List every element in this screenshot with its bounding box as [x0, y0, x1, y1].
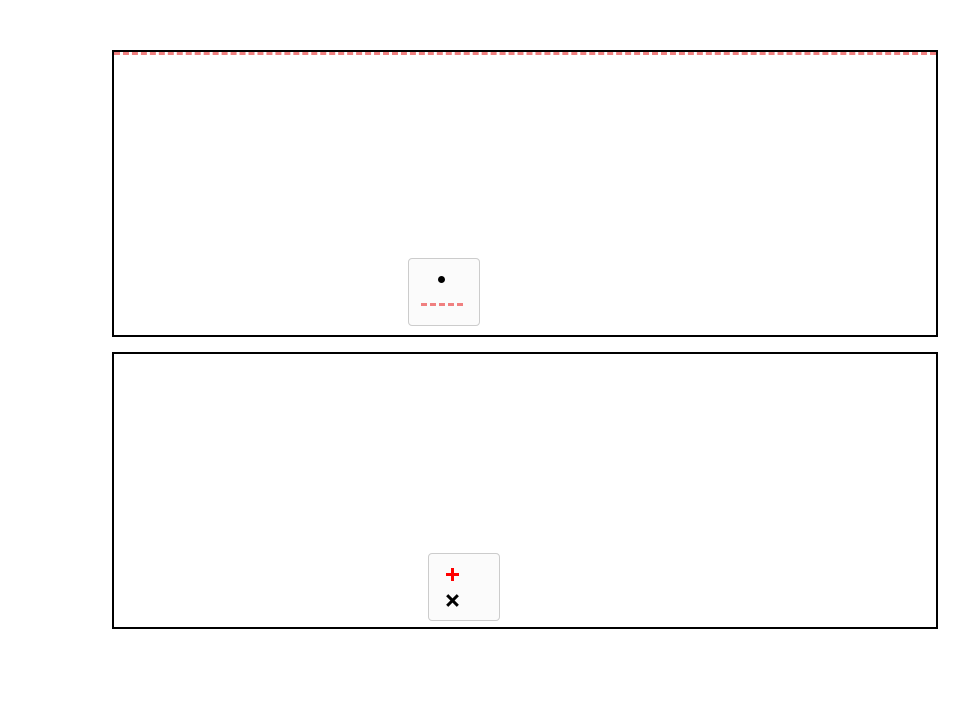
star-counts-points-layer	[114, 354, 936, 627]
legend-item-measurements	[419, 266, 465, 292]
dashed-line-icon	[419, 294, 465, 316]
measurements-points-layer	[114, 52, 936, 335]
legend-item-matched-stars	[439, 561, 485, 587]
legend-item-predicted-stars	[439, 587, 485, 613]
figure-canvas	[0, 0, 960, 720]
dot-marker-icon	[419, 268, 465, 290]
legend-item-threshold	[419, 292, 465, 318]
top-panel-legend	[408, 258, 480, 326]
bottom-panel-axes	[112, 352, 938, 629]
x-marker-icon	[439, 589, 485, 611]
bottom-panel-legend	[428, 553, 500, 621]
top-panel-axes	[112, 50, 938, 337]
plus-marker-icon	[439, 563, 485, 585]
